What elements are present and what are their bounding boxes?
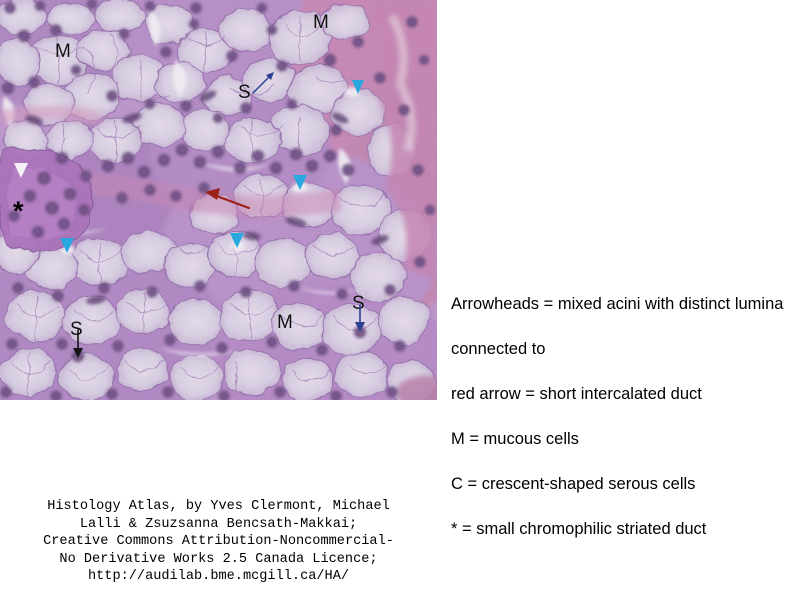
source-attribution-caption: Histology Atlas, by Yves Clermont, Micha… <box>0 498 437 586</box>
caption-line-3: Creative Commons Attribution-Noncommerci… <box>0 533 437 551</box>
histology-micrograph: M M M S S S * <box>0 0 437 400</box>
figure-page: M M M S S S * <box>0 0 800 600</box>
legend-entry-crescent: C = crescent-shaped serous cells <box>451 474 791 495</box>
legend-entry-arrowheads: Arrowheads = mixed acini with distinct l… <box>451 294 791 315</box>
caption-line-2: Lalli & Zsuzsanna Bencsath-Makkai; <box>0 516 437 534</box>
tissue-texture <box>0 0 437 400</box>
legend-entry-asterisk: * = small chromophilic striated duct <box>451 519 791 540</box>
figure-legend: Arrowheads = mixed acini with distinct l… <box>451 294 791 540</box>
caption-line-1: Histology Atlas, by Yves Clermont, Micha… <box>0 498 437 516</box>
caption-line-4: No Derivative Works 2.5 Canada Licence; <box>0 551 437 569</box>
legend-entry-mucous: M = mucous cells <box>451 429 791 450</box>
caption-line-5: http://audilab.bme.mcgill.ca/HA/ <box>0 568 437 586</box>
legend-entry-red-arrow: red arrow = short intercalated duct <box>451 384 791 405</box>
legend-entry-connected: connected to <box>451 339 791 360</box>
